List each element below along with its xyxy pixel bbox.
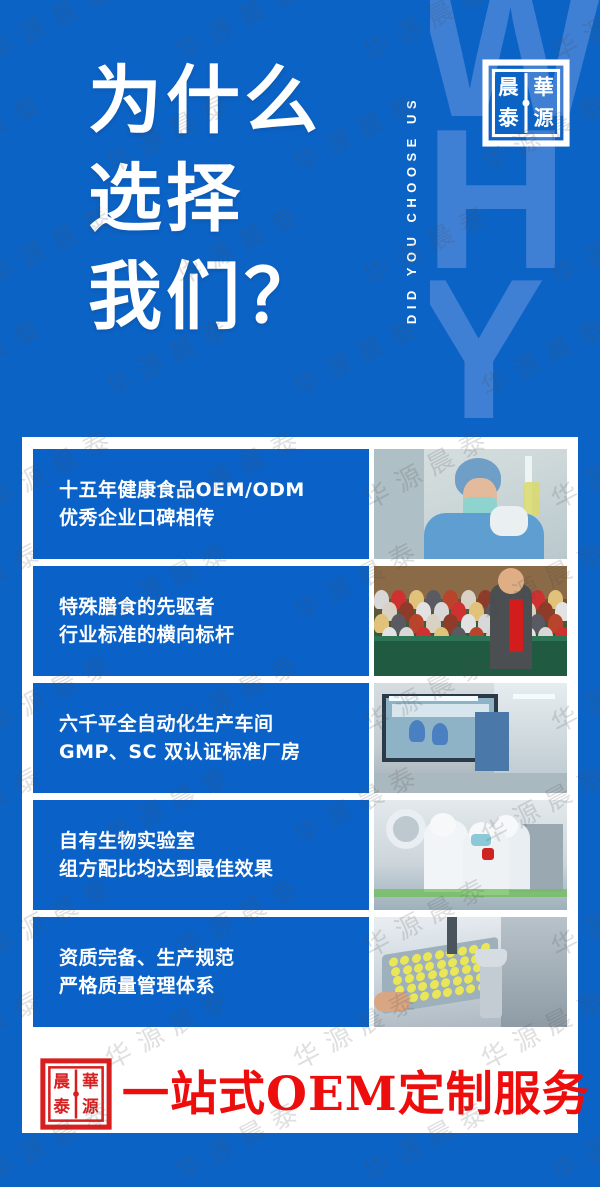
feature-card: 资质完备、生产规范 严格质量管理体系 bbox=[33, 917, 567, 1027]
headline-line-3: 我们？ bbox=[88, 248, 322, 346]
why-letter-y: Y bbox=[430, 268, 537, 430]
poster-root: W H Y DID YOU CHOOSE US 晨 泰 華 源 为什么 选择 我… bbox=[0, 0, 600, 1187]
headline-line-2: 选择 bbox=[88, 150, 322, 248]
feature-card-text: 自有生物实验室 组方配比均达到最佳效果 bbox=[33, 800, 369, 910]
svg-text:源: 源 bbox=[533, 106, 554, 130]
brand-seal-top-icon: 晨 泰 華 源 bbox=[482, 58, 570, 148]
pill-dot bbox=[389, 957, 398, 967]
watermark-text: 华源晨泰 bbox=[0, 304, 54, 404]
feature-card-list: 十五年健康食品OEM/ODM 优秀企业口碑相传 特殊膳食的先驱者 行业标准的横向… bbox=[33, 449, 567, 1027]
pill-dot bbox=[444, 987, 453, 997]
pill-dot bbox=[467, 983, 476, 993]
pill-dot bbox=[453, 976, 462, 986]
feature-card-text: 特殊膳食的先驱者 行业标准的横向标杆 bbox=[33, 566, 369, 676]
pill-dot bbox=[455, 985, 464, 995]
brand-seal-footer-icon: 晨 泰 華 源 bbox=[40, 1058, 112, 1130]
svg-text:源: 源 bbox=[82, 1096, 99, 1116]
pill-dot bbox=[417, 972, 426, 982]
cleanroom-corridor-photo bbox=[374, 683, 567, 793]
feature-card: 特殊膳食的先驱者 行业标准的横向标杆 bbox=[33, 566, 567, 676]
feature-card: 十五年健康食品OEM/ODM 优秀企业口碑相传 bbox=[33, 449, 567, 559]
feature-card: 自有生物实验室 组方配比均达到最佳效果 bbox=[33, 800, 567, 910]
hero-headline: 为什么 选择 我们？ bbox=[88, 52, 322, 346]
svg-text:泰: 泰 bbox=[53, 1096, 70, 1116]
pill-dot bbox=[462, 965, 471, 975]
pill-dot bbox=[407, 983, 416, 993]
pill-dot bbox=[432, 989, 441, 999]
pill-dot bbox=[439, 968, 448, 978]
pill-dot bbox=[421, 991, 430, 1001]
headline-line-1: 为什么 bbox=[88, 52, 322, 150]
feature-line-1: 十五年健康食品OEM/ODM bbox=[59, 480, 369, 501]
feature-line-2: 严格质量管理体系 bbox=[59, 976, 369, 997]
svg-text:晨: 晨 bbox=[53, 1072, 70, 1091]
pill-dot bbox=[464, 974, 473, 984]
footer-bar: 晨 泰 華 源 一站式OEM定制服务 bbox=[22, 1055, 578, 1133]
feature-line-2: 组方配比均达到最佳效果 bbox=[59, 859, 369, 880]
footer-slogan: 一站式OEM定制服务 bbox=[122, 1071, 590, 1118]
lab-technician-photo bbox=[374, 449, 567, 559]
feature-line-2: 优秀企业口碑相传 bbox=[59, 508, 369, 529]
feature-line-1: 特殊膳食的先驱者 bbox=[59, 597, 369, 618]
feature-card-text: 六千平全自动化生产车间 GMP、SC 双认证标准厂房 bbox=[33, 683, 369, 793]
svg-text:晨: 晨 bbox=[498, 75, 519, 99]
feature-card-text: 资质完备、生产规范 严格质量管理体系 bbox=[33, 917, 369, 1027]
svg-text:華: 華 bbox=[533, 75, 553, 99]
pill-dot bbox=[442, 978, 451, 988]
pill-dot bbox=[401, 955, 410, 965]
conference-audience-photo bbox=[374, 566, 567, 676]
vertical-english-caption: DID YOU CHOOSE US bbox=[398, 10, 424, 410]
pill-dot bbox=[458, 946, 467, 956]
production-line-staff-photo bbox=[374, 800, 567, 910]
tablet-press-machine-photo bbox=[374, 917, 567, 1027]
pill-dot bbox=[412, 953, 421, 963]
feature-line-1: 六千平全自动化生产车间 bbox=[59, 714, 369, 735]
pill-dot bbox=[430, 979, 439, 989]
feature-line-1: 资质完备、生产规范 bbox=[59, 948, 369, 969]
content-panel: 十五年健康食品OEM/ODM 优秀企业口碑相传 特殊膳食的先驱者 行业标准的横向… bbox=[22, 437, 578, 1133]
feature-line-2: 行业标准的横向标杆 bbox=[59, 625, 369, 646]
svg-text:華: 華 bbox=[82, 1072, 99, 1091]
feature-line-2: GMP、SC 双认证标准厂房 bbox=[59, 742, 369, 763]
feature-card: 六千平全自动化生产车间 GMP、SC 双认证标准厂房 bbox=[33, 683, 567, 793]
vertical-english-text: DID YOU CHOOSE US bbox=[404, 95, 419, 324]
feature-line-1: 自有生物实验室 bbox=[59, 831, 369, 852]
pill-dot bbox=[424, 951, 433, 961]
pill-dot bbox=[409, 992, 418, 1002]
svg-text:泰: 泰 bbox=[497, 106, 519, 130]
pill-dot bbox=[435, 950, 444, 960]
watermark-text: 华源晨泰 bbox=[0, 80, 54, 180]
pill-dot bbox=[419, 981, 428, 991]
pill-dot bbox=[394, 976, 403, 986]
feature-card-text: 十五年健康食品OEM/ODM 优秀企业口碑相传 bbox=[33, 449, 369, 559]
